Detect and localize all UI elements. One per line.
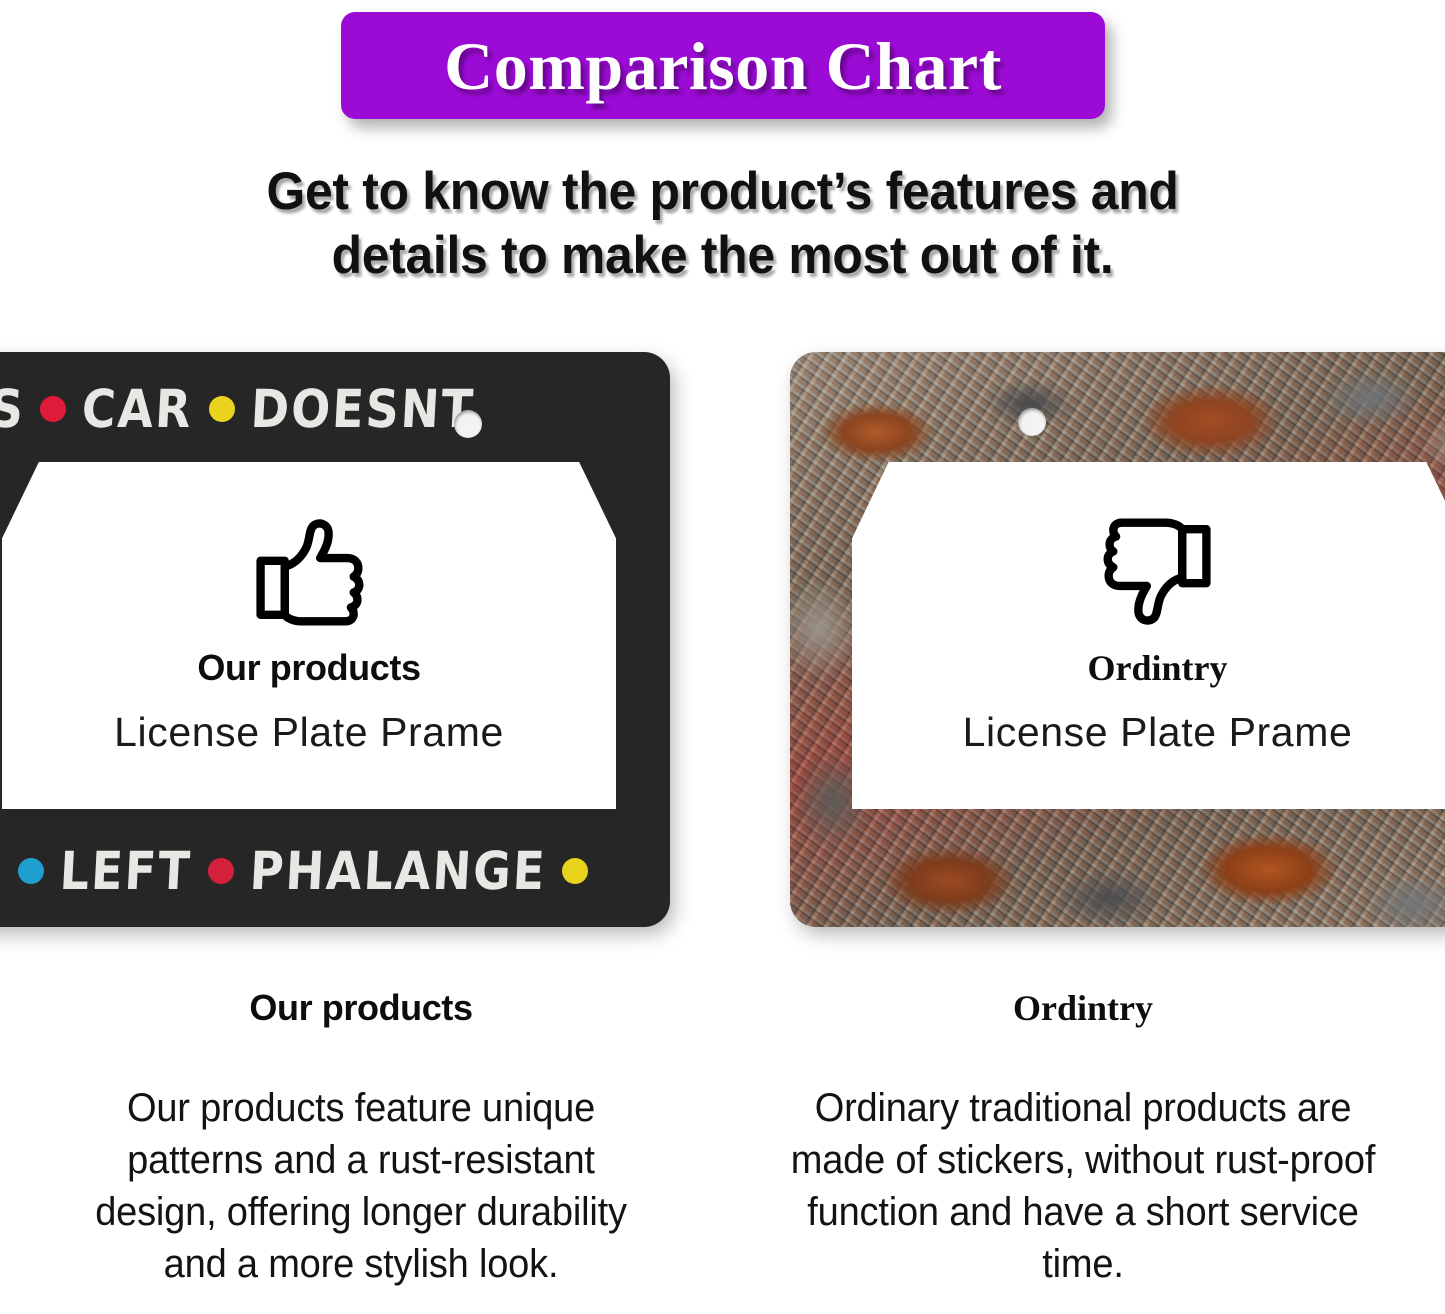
subtitle-line-2: details to make the most out of it. [43,224,1401,288]
thumbs-up-icon [253,518,365,626]
frame-top-word-car: CAR [81,378,195,440]
mounting-hole-icon [1018,408,1046,436]
frame-bottom-word-left: LEFT [58,840,193,902]
our-product-frame: S CAR DOESNT Ou [0,352,670,927]
page-title: Comparison Chart [444,32,1002,100]
black-license-plate-frame: S CAR DOESNT Ou [0,352,670,927]
dot-yellow-2 [562,858,588,884]
subtitle-line-1: Get to know the product’s features and [267,162,1179,221]
dot-red [40,396,66,422]
plate-window-ours: Our products License Plate Prame [2,462,616,809]
dot-yellow [209,396,235,422]
frame-top-engraving: S CAR DOESNT [0,378,670,440]
ordinary-column-title: Ordintry [722,990,1444,1026]
title-banner: Comparison Chart [341,12,1105,119]
rusted-license-plate-frame: Ordintry License Plate Prame [790,352,1445,927]
ours-description-column: Our products Our products feature unique… [0,990,722,1290]
ours-brand-label: Our products [197,650,420,686]
dot-blue [18,858,44,884]
ordinary-product-frame: Ordintry License Plate Prame [790,352,1445,927]
page-subtitle: Get to know the product’s features and d… [43,160,1401,287]
ordinary-product-name: License Plate Prame [963,712,1353,753]
ordinary-brand-label: Ordintry [1088,650,1228,686]
thumbs-down-icon [1102,518,1214,626]
dot-red-2 [208,858,234,884]
ours-column-body: Our products feature unique patterns and… [18,1082,704,1290]
mounting-hole-icon [454,410,482,438]
frame-bottom-engraving: LEFT PHALANGE [0,837,670,905]
frame-top-word-doesnt: DOESNT [249,378,476,440]
description-columns: Our products Our products feature unique… [0,990,1445,1314]
frame-top-text-partial: S [0,378,26,440]
plate-window-ordinary: Ordintry License Plate Prame [852,462,1445,809]
ordinary-column-body: Ordinary traditional products are made o… [740,1082,1426,1290]
ours-column-title: Our products [0,990,722,1026]
frame-bottom-word-phalange: PHALANGE [248,840,548,902]
comparison-chart-page: Comparison Chart Get to know the product… [0,0,1445,1314]
frames-comparison-row: S CAR DOESNT Ou [0,352,1445,932]
ordinary-description-column: Ordintry Ordinary traditional products a… [722,990,1444,1290]
ours-product-name: License Plate Prame [114,712,504,753]
